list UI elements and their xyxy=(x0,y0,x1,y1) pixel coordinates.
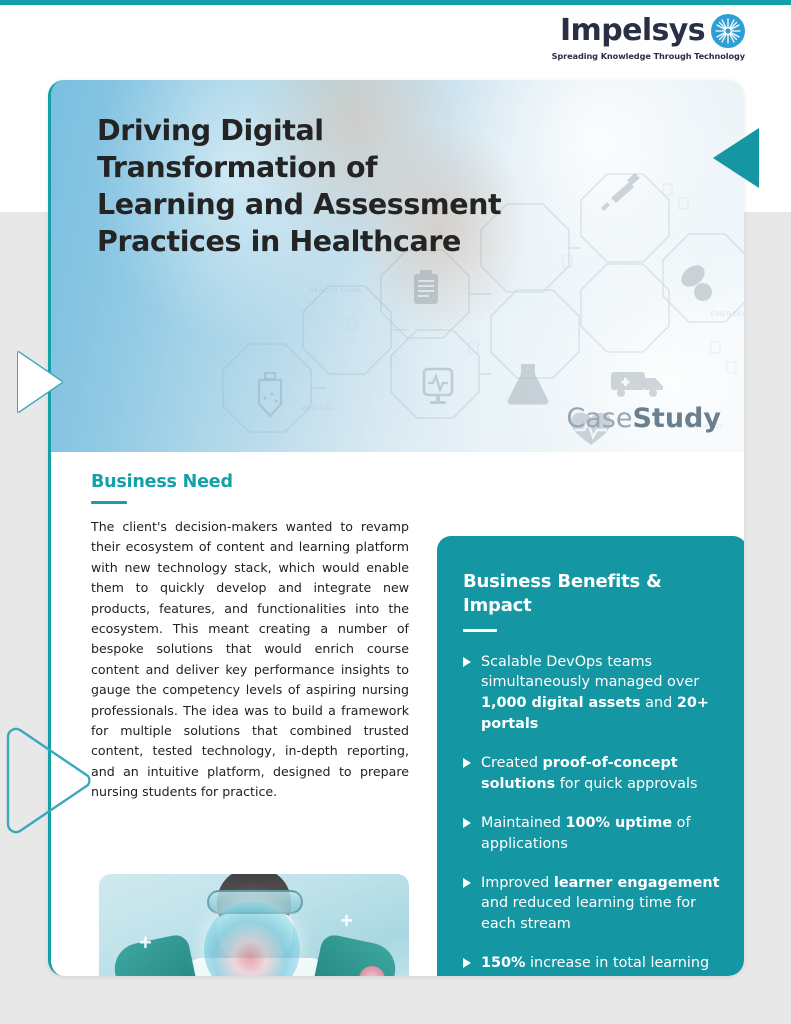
photo-glove-left xyxy=(110,933,202,976)
triangle-bullet-icon xyxy=(463,758,471,768)
triangle-bullet-icon xyxy=(463,818,471,828)
benefit-text-part: 1,000 digital assets xyxy=(481,695,641,711)
benefit-item: Created proof-of-concept solutions for q… xyxy=(463,753,721,795)
benefit-text-part: and reduced learning time for each strea… xyxy=(481,895,696,932)
photo-plus-icon-right: + xyxy=(340,910,353,932)
photo-artwork: + + xyxy=(99,874,409,976)
benefit-text-part: for quick approvals xyxy=(555,776,697,792)
scientist-globe-photo: + + xyxy=(99,874,409,976)
benefit-text-part: and xyxy=(641,695,677,711)
logo-wordmark: Impelsys xyxy=(560,16,705,46)
benefit-text-part: Scalable DevOps teams simultaneously man… xyxy=(481,654,699,691)
photo-plus-icon-left: + xyxy=(139,932,152,954)
business-benefits-heading: Business Benefits & Impact xyxy=(463,570,721,619)
benefit-text-part: Improved xyxy=(481,875,554,891)
page-title: Driving Digital Transformation of Learni… xyxy=(97,112,517,260)
benefit-text-part: Maintained xyxy=(481,815,566,831)
business-need-heading: Business Need xyxy=(91,472,409,492)
business-benefits-list: Scalable DevOps teams simultaneously man… xyxy=(463,652,721,976)
decorative-triangle-right xyxy=(713,128,759,188)
case-study-card: HEALTH CARE MEDICAL DISEASES EMERGENCY D… xyxy=(48,80,744,976)
benefit-text-part: 100% uptime xyxy=(566,815,673,831)
benefit-text-part: learner engagement xyxy=(554,875,720,891)
benefit-text-part: 150% xyxy=(481,955,525,971)
benefit-item: Maintained 100% uptime of applications xyxy=(463,813,721,855)
photo-glove-right xyxy=(308,933,400,976)
business-benefits-underline xyxy=(463,629,497,632)
benefit-item: Improved learner engagement and reduced … xyxy=(463,873,721,936)
business-need-section: Business Need The client's decision-make… xyxy=(91,472,409,802)
case-study-badge-bold: Study xyxy=(632,403,721,434)
business-need-paragraph: The client's decision-makers wanted to r… xyxy=(91,517,409,802)
hero-banner: HEALTH CARE MEDICAL DISEASES EMERGENCY D… xyxy=(51,80,744,452)
benefit-item: Scalable DevOps teams simultaneously man… xyxy=(463,652,721,736)
decorative-triangle-left-solid xyxy=(18,352,62,412)
brand-logo: Impelsys Spreading Knowledge Through Tec… xyxy=(552,14,745,61)
business-benefits-panel: Business Benefits & Impact Scalable DevO… xyxy=(437,536,744,976)
logo-row: Impelsys xyxy=(560,14,745,48)
hex-label-emergency: EMERGENCY xyxy=(711,312,744,318)
benefit-item: 150% increase in total learning sessions… xyxy=(463,953,721,976)
benefit-text-part: Created xyxy=(481,755,543,771)
triangle-bullet-icon xyxy=(463,657,471,667)
decorative-triangle-left-outline xyxy=(6,716,96,844)
case-study-badge: CaseStudy xyxy=(566,405,721,432)
logo-tagline: Spreading Knowledge Through Technology xyxy=(552,51,745,61)
business-need-underline xyxy=(91,501,127,504)
case-study-badge-light: Case xyxy=(566,403,632,434)
card-body: Business Need The client's decision-make… xyxy=(51,452,744,976)
triangle-bullet-icon xyxy=(463,958,471,968)
triangle-bullet-icon xyxy=(463,878,471,888)
starburst-compass-icon xyxy=(711,14,745,48)
